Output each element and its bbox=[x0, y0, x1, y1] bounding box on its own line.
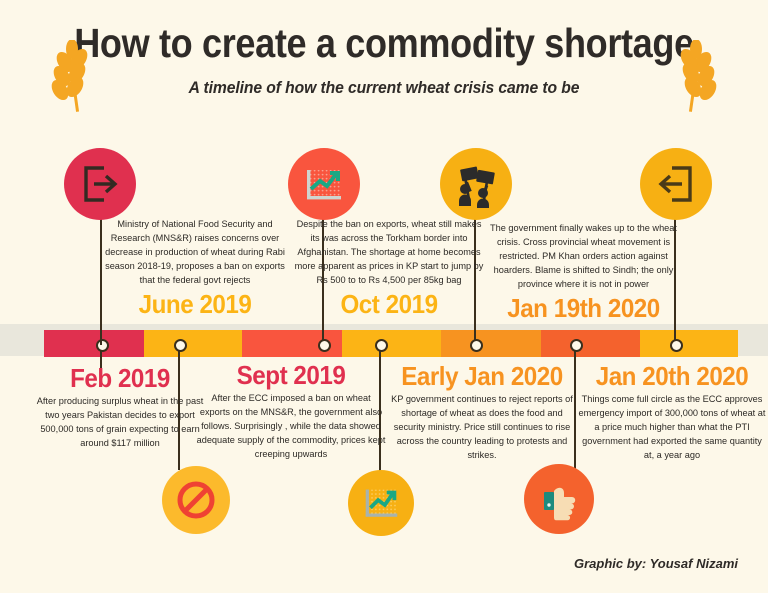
event-block-sept-2019: Sept 2019 After the ECC imposed a ban on… bbox=[196, 362, 386, 462]
connector-dot bbox=[96, 339, 109, 352]
pointing-hand-icon bbox=[536, 476, 582, 522]
event-text: KP government continues to reject report… bbox=[386, 393, 578, 463]
ban-icon bbox=[174, 478, 218, 522]
import-arrow-icon bbox=[655, 163, 697, 205]
connector-dot bbox=[375, 339, 388, 352]
event-block-feb-2019: Feb 2019 After producing surplus wheat i… bbox=[32, 365, 208, 451]
connector-dot bbox=[570, 339, 583, 352]
timeline-segment bbox=[144, 330, 242, 357]
timeline-segment bbox=[640, 330, 738, 357]
event-text: After producing surplus wheat in the pas… bbox=[32, 395, 208, 451]
rising-chart-icon bbox=[301, 161, 347, 207]
icon-circle-export bbox=[64, 148, 136, 220]
rising-chart-icon bbox=[359, 481, 403, 525]
page-title: How to create a commodity shortage bbox=[46, 22, 722, 65]
event-text: Things come full circle as the ECC appro… bbox=[578, 393, 766, 463]
icon-circle-ban bbox=[162, 466, 230, 534]
timeline-bar bbox=[44, 330, 738, 357]
event-block-oct-2019: Despite the ban on exports, wheat still … bbox=[294, 218, 484, 317]
icon-circle-protest bbox=[440, 148, 512, 220]
event-block-june-2019: Ministry of National Food Security and R… bbox=[100, 218, 290, 317]
timeline-segment bbox=[342, 330, 441, 357]
export-arrow-icon bbox=[79, 163, 121, 205]
connector-dot bbox=[174, 339, 187, 352]
icon-circle-import bbox=[640, 148, 712, 220]
icon-circle-rising-chart-2 bbox=[348, 470, 414, 536]
event-date: Early Jan 2020 bbox=[393, 363, 572, 389]
timeline-segment bbox=[541, 330, 640, 357]
connector-dot bbox=[670, 339, 683, 352]
timeline-segment bbox=[441, 330, 541, 357]
event-block-jan-20th-2020: Jan 20th 2020 Things come full circle as… bbox=[578, 363, 766, 463]
event-text: The government finally wakes up to the w… bbox=[487, 222, 680, 292]
credit-line: Graphic by: Yousaf Nizami bbox=[574, 556, 738, 571]
icon-circle-pointing-hand bbox=[524, 464, 594, 534]
wheat-stalk-icon bbox=[668, 40, 720, 112]
event-text: Despite the ban on exports, wheat still … bbox=[294, 218, 484, 288]
connector-dot bbox=[470, 339, 483, 352]
event-date: Sept 2019 bbox=[203, 362, 380, 388]
protest-signs-icon bbox=[452, 160, 500, 208]
event-text: Ministry of National Food Security and R… bbox=[100, 218, 290, 288]
event-block-jan-19th-2020: The government finally wakes up to the w… bbox=[487, 222, 680, 321]
event-text: After the ECC imposed a ban on wheat exp… bbox=[196, 392, 386, 462]
event-date: Feb 2019 bbox=[38, 365, 202, 391]
event-date: Jan 19th 2020 bbox=[494, 295, 673, 321]
header: How to create a commodity shortage A tim… bbox=[0, 22, 768, 98]
event-date: Oct 2019 bbox=[301, 291, 478, 317]
page-subtitle: A timeline of how the current wheat cris… bbox=[19, 79, 749, 98]
wheat-stalk-icon bbox=[48, 40, 100, 112]
event-date: June 2019 bbox=[107, 291, 284, 317]
timeline-segment bbox=[44, 330, 144, 357]
event-date: Jan 20th 2020 bbox=[585, 363, 760, 389]
icon-circle-rising-chart bbox=[288, 148, 360, 220]
infographic-canvas: How to create a commodity shortage A tim… bbox=[0, 0, 768, 593]
connector-dot bbox=[318, 339, 331, 352]
event-block-early-jan-2020: Early Jan 2020 KP government continues t… bbox=[386, 363, 578, 463]
